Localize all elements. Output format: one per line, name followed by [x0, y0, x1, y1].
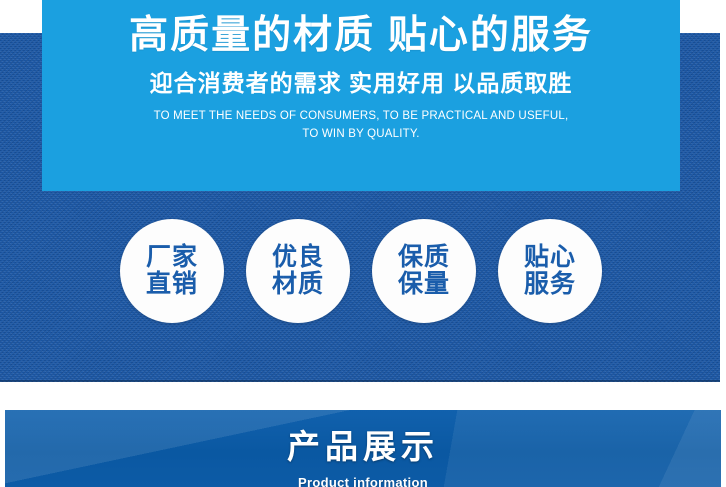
headline-subtitle-english-line1: TO MEET THE NEEDS OF CONSUMERS, TO BE PR…	[42, 108, 680, 126]
feature-circle-quality-material: 优良 材质	[246, 219, 350, 323]
frame-edge-left-top	[0, 0, 42, 33]
feature-circle-3-line1: 保质	[398, 244, 450, 271]
product-banner-subtitle: Product information	[5, 468, 721, 487]
feature-circle-2-line2: 材质	[272, 271, 324, 298]
headline-panel: 高质量的材质 贴心的服务 迎合消费者的需求 实用好用 以品质取胜 TO MEET…	[42, 0, 680, 191]
feature-circle-1-line1: 厂家	[146, 244, 198, 271]
feature-circle-2-line1: 优良	[272, 244, 324, 271]
headline-main-title: 高质量的材质 贴心的服务	[42, 0, 680, 58]
promo-banner-page: 高质量的材质 贴心的服务 迎合消费者的需求 实用好用 以品质取胜 TO MEET…	[0, 0, 726, 487]
headline-subtitle-english-line2: TO WIN BY QUALITY.	[42, 126, 680, 144]
feature-circle-factory-direct: 厂家 直销	[120, 219, 224, 323]
frame-edge-right	[720, 0, 726, 382]
feature-circle-1-line2: 直销	[146, 271, 198, 298]
feature-circle-4-line1: 贴心	[524, 244, 576, 271]
product-information-banner: 产品展示 Product information	[5, 410, 721, 487]
feature-circle-thoughtful-service: 贴心 服务	[498, 219, 602, 323]
feature-circle-4-line2: 服务	[524, 271, 576, 298]
headline-subtitle-chinese: 迎合消费者的需求 实用好用 以品质取胜	[42, 58, 680, 98]
product-banner-title: 产品展示	[5, 410, 721, 468]
feature-circles-row: 厂家 直销 优良 材质 保质 保量 贴心 服务	[42, 216, 680, 326]
headline-subtitle-english: TO MEET THE NEEDS OF CONSUMERS, TO BE PR…	[42, 97, 680, 144]
feature-circle-3-line2: 保量	[398, 271, 450, 298]
feature-circle-guaranteed-quality: 保质 保量	[372, 219, 476, 323]
